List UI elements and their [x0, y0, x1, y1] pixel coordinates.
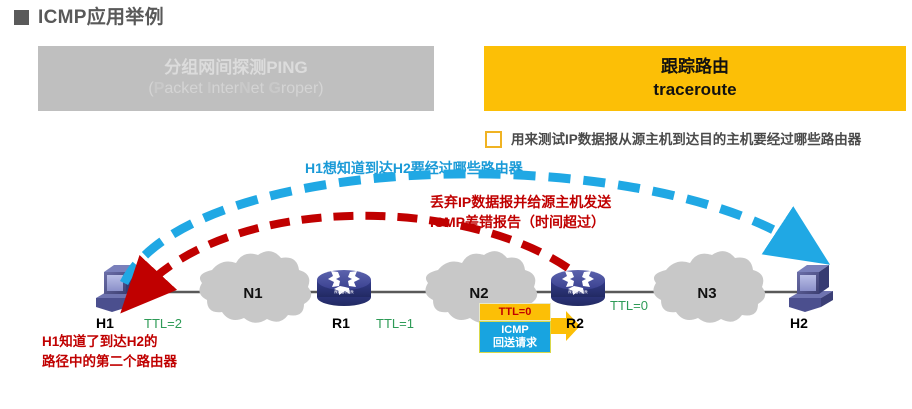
- red-bottom-annotation: H1知道了到达H2的 路径中的第二个路由器: [42, 332, 177, 373]
- node-host-h1: [96, 265, 140, 312]
- red-annotation-line2: ICMP差错报告（时间超过）: [430, 212, 611, 232]
- ping-panel-subtitle: (Packet InterNet Groper): [148, 79, 323, 100]
- traceroute-panel-title: 跟踪路由: [661, 56, 729, 78]
- node-cloud-n3: [653, 251, 765, 323]
- red-bottom-line1: H1知道了到达H2的: [42, 332, 177, 352]
- ttl-label-r1: TTL=1: [376, 316, 414, 331]
- node-label-r2: R2: [566, 315, 584, 331]
- blue-annotation-label: H1想知道到达H2要经过哪些路由器: [305, 160, 523, 177]
- icmp-badge-body: ICMP 回送请求: [479, 321, 551, 353]
- node-label-n1: N1: [243, 285, 262, 302]
- page-title-text: ICMP应用举例: [38, 8, 164, 27]
- ttl-label-r2: TTL=0: [610, 298, 648, 313]
- icmp-echo-request-badge: TTL=0 ICMP 回送请求: [479, 303, 551, 353]
- node-router-r2: ROUTER: [551, 270, 605, 306]
- traceroute-panel-subtitle: traceroute: [653, 79, 736, 101]
- node-label-r1: R1: [332, 315, 350, 331]
- node-router-r1: ROUTER: [317, 270, 371, 306]
- icmp-badge-ttl-text: TTL=0: [499, 307, 532, 318]
- red-bottom-line2: 路径中的第二个路由器: [42, 352, 177, 372]
- icmp-badge-ttl: TTL=0: [479, 303, 551, 321]
- router-caption-r1: ROUTER: [334, 290, 354, 295]
- ping-panel: 分组网间探测PING (Packet InterNet Groper): [38, 46, 434, 111]
- icmp-badge-subtitle: 回送请求: [493, 337, 537, 350]
- red-annotation-label: 丢弃IP数据报并给源主机发送 ICMP差错报告（时间超过）: [430, 192, 611, 233]
- ping-panel-title: 分组网间探测PING: [164, 57, 308, 78]
- square-bullet-icon: [14, 10, 29, 25]
- node-label-n2: N2: [469, 285, 488, 302]
- icmp-badge-title: ICMP: [501, 324, 529, 337]
- traceroute-bullet-text: 用来测试IP数据报从源主机到达目的主机要经过哪些路由器: [511, 133, 861, 147]
- traceroute-panel: 跟踪路由 traceroute: [484, 46, 906, 111]
- ttl-label-h1: TTL=2: [144, 316, 182, 331]
- page-title: ICMP应用举例: [14, 8, 164, 27]
- node-label-h2: H2: [790, 315, 808, 331]
- node-host-h2: [789, 265, 833, 312]
- node-label-n3: N3: [697, 285, 716, 302]
- node-label-h1: H1: [96, 315, 114, 331]
- node-cloud-n1: [199, 251, 311, 323]
- router-caption-r2: ROUTER: [568, 290, 588, 295]
- traceroute-bullet-row: 用来测试IP数据报从源主机到达目的主机要经过哪些路由器: [485, 131, 912, 148]
- hollow-square-bullet-icon: [485, 131, 502, 148]
- slide-canvas: ICMP应用举例 分组网间探测PING (Packet InterNet Gro…: [0, 0, 912, 409]
- red-annotation-line1: 丢弃IP数据报并给源主机发送: [430, 192, 611, 212]
